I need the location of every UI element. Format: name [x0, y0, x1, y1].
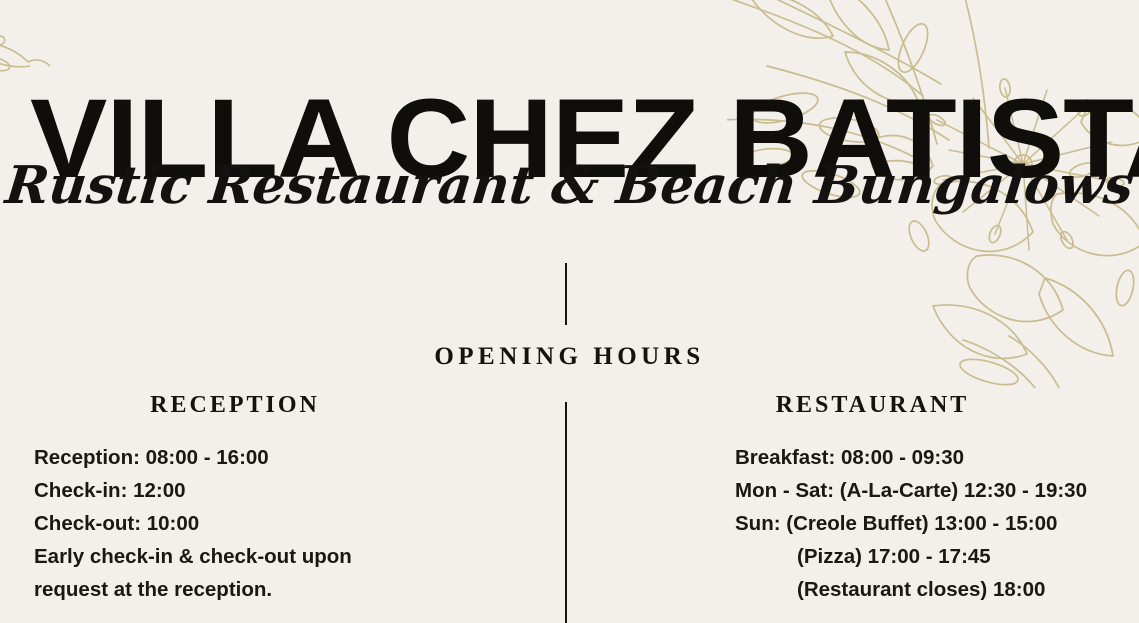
list-item: Early check-in & check-out upon [34, 540, 520, 573]
list-item: Reception: 08:00 - 16:00 [34, 441, 520, 474]
list-item: Check-out: 10:00 [34, 507, 520, 540]
list-item: (Pizza) 17:00 - 17:45 [735, 540, 1139, 573]
poster-canvas: VILLA CHEZ BATISTA Rustic Restaurant & B… [0, 0, 1139, 623]
column-restaurant: RESTAURANT Breakfast: 08:00 - 09:30 Mon … [610, 392, 1139, 606]
column-heading-reception: RECEPTION [0, 392, 520, 419]
list-item: Check-in: 12:00 [34, 474, 520, 507]
list-item: request at the reception. [34, 573, 520, 606]
divider-columns [565, 402, 567, 623]
list-item: (Restaurant closes) 18:00 [735, 573, 1139, 606]
list-item: Mon - Sat: (A-La-Carte) 12:30 - 19:30 [735, 474, 1139, 507]
divider-top [565, 263, 567, 325]
restaurant-hours-list: Breakfast: 08:00 - 09:30 Mon - Sat: (A-L… [610, 441, 1139, 606]
reception-hours-list: Reception: 08:00 - 16:00 Check-in: 12:00… [0, 441, 520, 606]
list-item: Sun: (Creole Buffet) 13:00 - 15:00 [735, 507, 1139, 540]
column-reception: RECEPTION Reception: 08:00 - 16:00 Check… [0, 392, 520, 606]
list-item: Breakfast: 08:00 - 09:30 [735, 441, 1139, 474]
column-heading-restaurant: RESTAURANT [610, 392, 1139, 419]
section-label-opening-hours: OPENING HOURS [0, 343, 1139, 371]
page-subtitle: Rustic Restaurant & Beach Bungalows [0, 160, 1139, 212]
